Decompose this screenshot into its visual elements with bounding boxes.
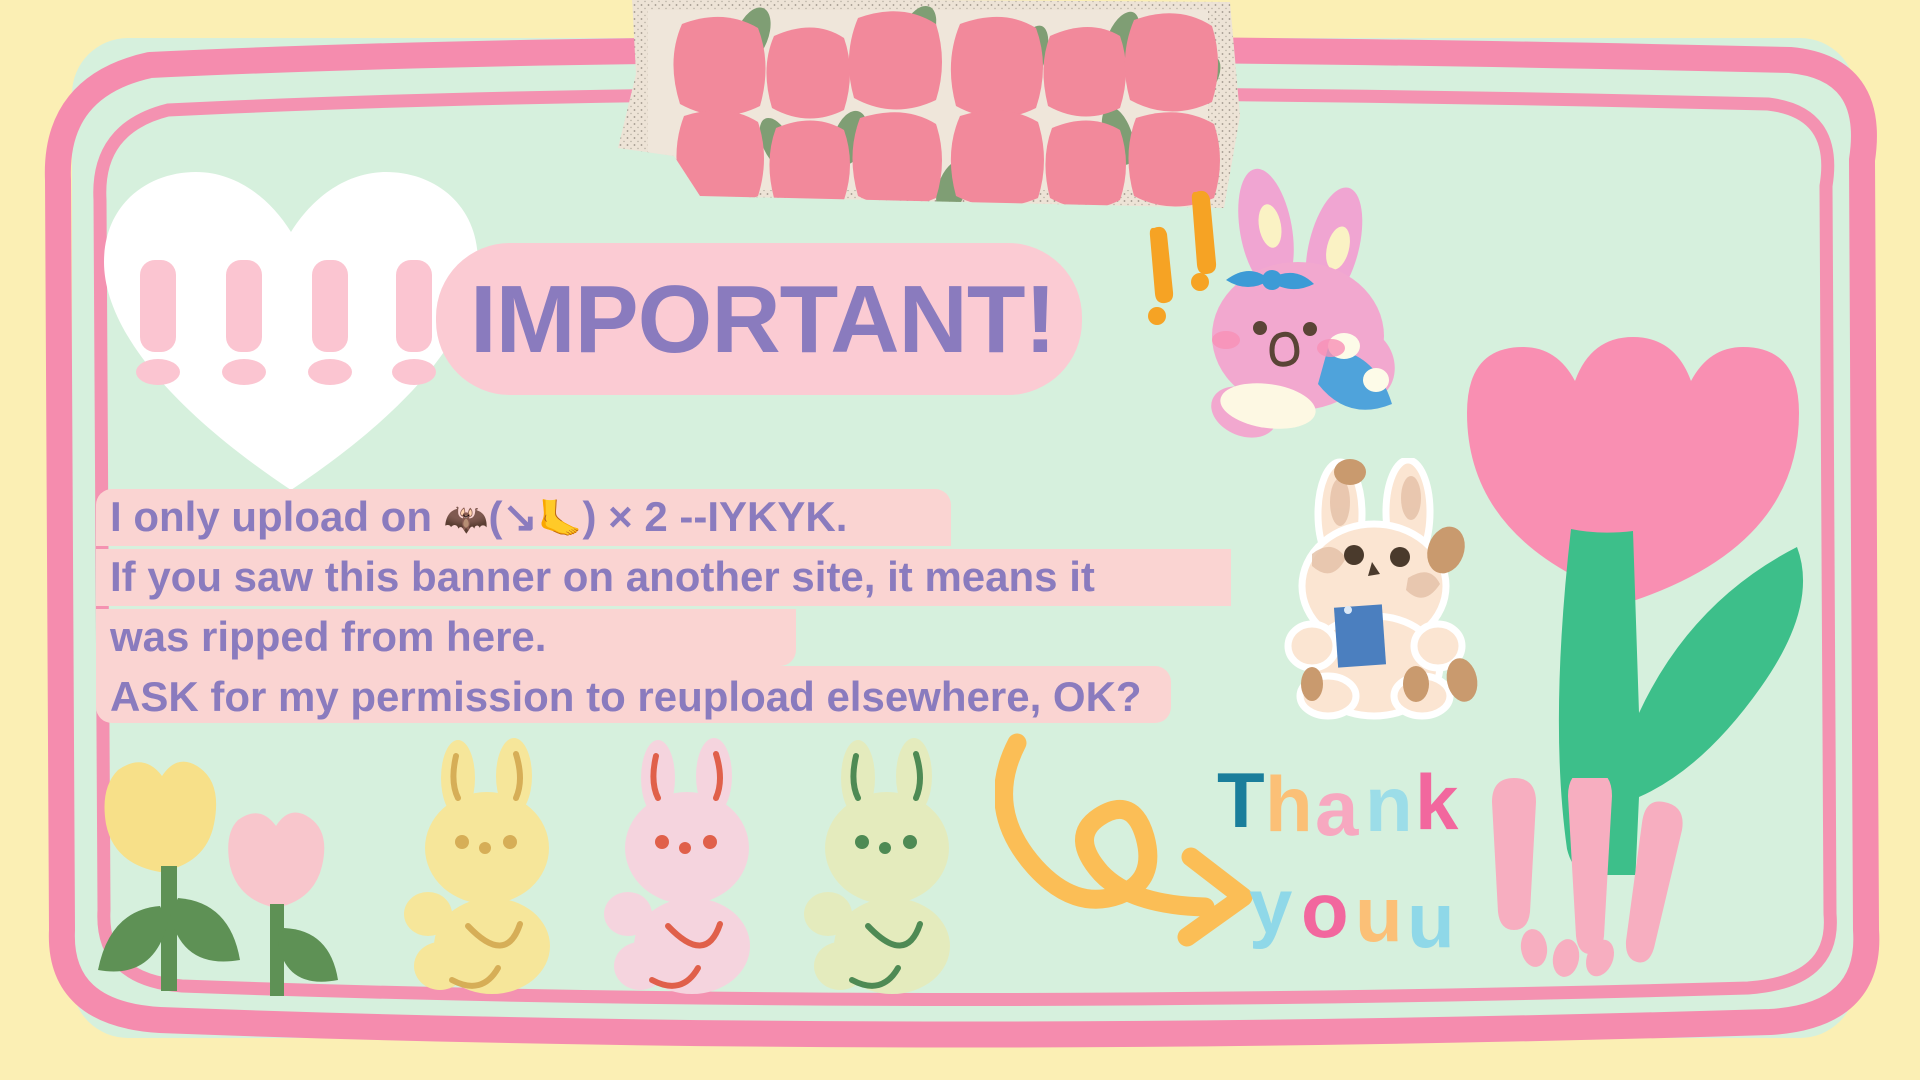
notice-line-4: ASK for my permission to reupload elsewh…	[96, 667, 1296, 727]
thankyou-letter-u1: u	[1355, 870, 1403, 958]
thankyou-letter-a: a	[1315, 765, 1359, 852]
notice-line-3: was ripped from here.	[96, 607, 1296, 667]
notice-line-4-text: ASK for my permission to reupload elsewh…	[96, 667, 1296, 727]
notice-line-1-text: I only upload on	[110, 493, 444, 540]
notice-line-2: If you saw this banner on another site, …	[96, 547, 1296, 607]
thankyou-letter-k: k	[1415, 765, 1459, 846]
green-bunny-cookie	[804, 738, 950, 994]
cookie-bunnies-row	[400, 738, 990, 996]
foot-icon: 🦶	[538, 498, 583, 539]
cream-bunny-with-phone	[1268, 458, 1498, 723]
thank-you-lettering: T h a n k y o u u	[1215, 765, 1515, 960]
flying-pink-bunny	[1148, 168, 1438, 473]
thankyou-letter-h: h	[1265, 765, 1313, 848]
yellow-bunny-cookie	[404, 738, 550, 994]
small-tulips	[88, 748, 378, 1004]
page-title: IMPORTANT!	[470, 265, 1090, 375]
thankyou-letter-T: T	[1217, 765, 1265, 844]
notice-line-3-text: was ripped from here.	[96, 607, 1296, 667]
white-heart-with-exclamations	[96, 160, 486, 495]
bat-icon: 🦇	[444, 498, 489, 539]
thankyou-letter-n: n	[1365, 765, 1413, 848]
pink-bunny-cookie	[604, 738, 750, 994]
excited-exclamation-icon	[1148, 191, 1216, 325]
notice-line-1: I only upload on 🦇(↘🦶) × 2 --IYKYK.	[96, 487, 1296, 547]
yellow-tulip	[98, 762, 240, 991]
pink-exclamation-marks	[1478, 778, 1748, 1013]
notice-line-1-tail: ) × 2 --IYKYK.	[583, 493, 848, 540]
pink-tulip	[228, 813, 338, 996]
banner-canvas: IMPORTANT! I only upload on 🦇(↘🦶) × 2 --…	[0, 0, 1920, 1080]
notice-line-2-text: If you saw this banner on another site, …	[96, 547, 1296, 607]
thankyou-letter-y: y	[1249, 862, 1292, 950]
thankyou-letter-o: o	[1301, 866, 1349, 954]
thankyou-letter-u2: u	[1407, 876, 1455, 960]
notice-line-1-mid: (↘	[488, 493, 537, 540]
notice-text-block: I only upload on 🦇(↘🦶) × 2 --IYKYK. If y…	[96, 487, 1296, 727]
